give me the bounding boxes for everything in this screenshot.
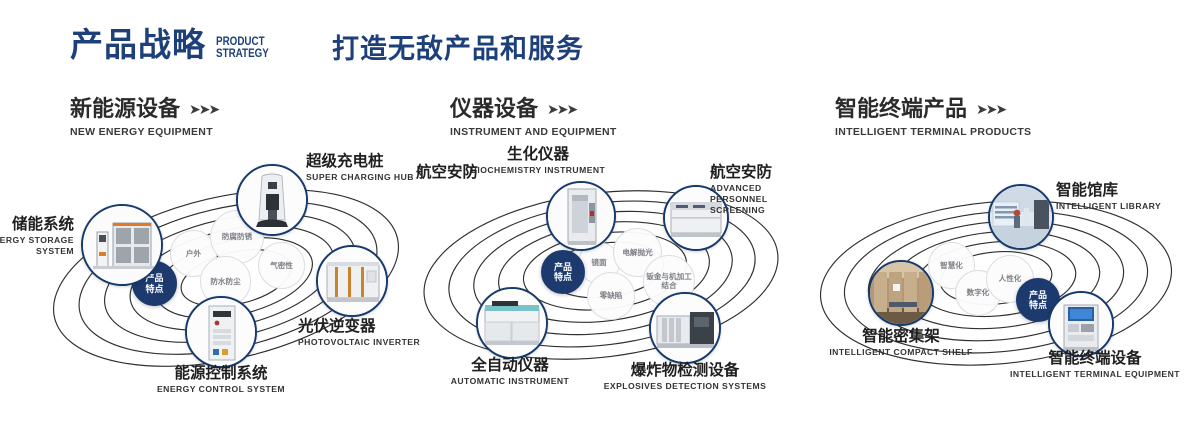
label-intelligent-terminal-equipment: 智能终端设备 INTELLIGENT TERMINAL EQUIPMENT [1000, 350, 1190, 380]
label-intelligent-compact-shelf: 智能密集架 INTELLIGENT COMPACT SHELF [816, 328, 986, 358]
section-title-instrument: 仪器设备 ➤➤➤ INSTRUMENT AND EQUIPMENT [450, 96, 617, 138]
label-en: ADVANCED PERSONNEL SCREENING [710, 183, 802, 216]
page-subtitle: 打造无敌产品和服务 [332, 36, 584, 63]
label-en: ENERGY CONTROL SYSTEM [126, 384, 316, 395]
section-title-cn: 新能源设备 ➤➤➤ [70, 96, 218, 122]
section-title-label: 新能源设备 [70, 96, 180, 122]
label-advanced-personnel-screening: 航空安防 ADVANCED PERSONNEL SCREENING [710, 164, 802, 216]
section-title-cn: 仪器设备 ➤➤➤ [450, 96, 617, 122]
chevron-right-triple-icon: ➤➤➤ [547, 96, 576, 122]
section-title-label: 智能终端产品 [835, 96, 967, 122]
node-intelligent-library[interactable] [988, 184, 1054, 250]
core-bubble: 产品特点 [541, 250, 585, 294]
biochemistry-photo [548, 183, 614, 249]
energy-storage-photo [83, 206, 161, 284]
library-photo [990, 186, 1052, 248]
charging-hub-photo [238, 166, 306, 234]
label-en: INTELLIGENT TERMINAL EQUIPMENT [1000, 369, 1190, 380]
terminal-equipment-photo [1050, 293, 1112, 355]
label-aviation-security-left: 航空安防 [348, 164, 478, 182]
chevron-right-triple-icon: ➤➤➤ [976, 96, 1005, 122]
node-energy-storage-system[interactable] [81, 204, 163, 286]
label-intelligent-library: 智能馆库 INTELLIGENT LIBRARY [1056, 182, 1161, 212]
page-title-en-line2: STRATEGY [216, 47, 269, 59]
label-en: AUTOMATIC INSTRUMENT [430, 376, 590, 387]
chevron-right-triple-icon: ➤➤➤ [189, 96, 218, 122]
node-automatic-instrument[interactable] [476, 287, 548, 359]
node-super-charging-hub[interactable] [236, 164, 308, 236]
label-energy-control-system: 能源控制系统 ENERGY CONTROL SYSTEM [126, 365, 316, 395]
label-en: ENERGY STORAGE SYSTEM [0, 235, 74, 257]
page-title-cn: 产品战略 [70, 28, 206, 61]
cluster-intelligent: 智慧化 数字化 人性化 产品特点 [800, 160, 1200, 400]
node-energy-control-system[interactable] [185, 296, 257, 368]
node-biochemistry-instrument[interactable] [546, 181, 616, 251]
label-en: INTELLIGENT LIBRARY [1056, 201, 1161, 212]
cluster-instrument: 镜面 电解抛光 零缺陷 钣金与机加工结合 产品特点 生 [410, 150, 820, 400]
label-energy-storage-system: 储能系统 ENERGY STORAGE SYSTEM [0, 216, 74, 257]
label-explosives-detection: 爆炸物检测设备 EXPLOSIVES DETECTION SYSTEMS [595, 362, 775, 392]
label-biochemistry-instrument: 生化仪器 BIOCHEMISTRY INSTRUMENT [453, 146, 623, 176]
section-title-cn: 智能终端产品 ➤➤➤ [835, 96, 1031, 122]
section-title-en: INSTRUMENT AND EQUIPMENT [450, 126, 617, 138]
node-explosives-detection[interactable] [649, 292, 721, 364]
section-title-label: 仪器设备 [450, 96, 538, 122]
page-title: 产品战略 PRODUCT STRATEGY [70, 28, 280, 61]
label-automatic-instrument: 全自动仪器 AUTOMATIC INSTRUMENT [430, 357, 590, 387]
explosives-detection-photo [651, 294, 719, 362]
label-en: PHOTOVOLTAIC INVERTER [298, 337, 420, 348]
page-title-en: PRODUCT STRATEGY [216, 35, 269, 59]
node-intelligent-compact-shelf[interactable] [868, 260, 934, 326]
inverter-photo [318, 247, 386, 315]
section-title-en: NEW ENERGY EQUIPMENT [70, 126, 218, 138]
node-intelligent-terminal-equipment[interactable] [1048, 291, 1114, 357]
cluster-new-energy: 户外 防腐防锈 防水防尘 气密性 产品特点 [40, 150, 440, 400]
poster-canvas: 产品战略 PRODUCT STRATEGY 打造无敌产品和服务 新能源设备 ➤➤… [0, 0, 1200, 422]
feature-bubble: 零缺陷 [587, 272, 635, 320]
automatic-instrument-photo [478, 289, 546, 357]
section-title-intelligent: 智能终端产品 ➤➤➤ INTELLIGENT TERMINAL PRODUCTS [835, 96, 1031, 138]
label-photovoltaic-inverter: 光伏逆变器 PHOTOVOLTAIC INVERTER [298, 318, 420, 348]
control-system-photo [187, 298, 255, 366]
node-photovoltaic-inverter[interactable] [316, 245, 388, 317]
compact-shelf-photo [870, 262, 932, 324]
section-title-new-energy: 新能源设备 ➤➤➤ NEW ENERGY EQUIPMENT [70, 96, 218, 138]
label-en: INTELLIGENT COMPACT SHELF [816, 347, 986, 358]
label-en: EXPLOSIVES DETECTION SYSTEMS [595, 381, 775, 392]
section-title-en: INTELLIGENT TERMINAL PRODUCTS [835, 126, 1031, 138]
feature-bubble: 气密性 [258, 242, 305, 289]
label-en: BIOCHEMISTRY INSTRUMENT [453, 165, 623, 176]
